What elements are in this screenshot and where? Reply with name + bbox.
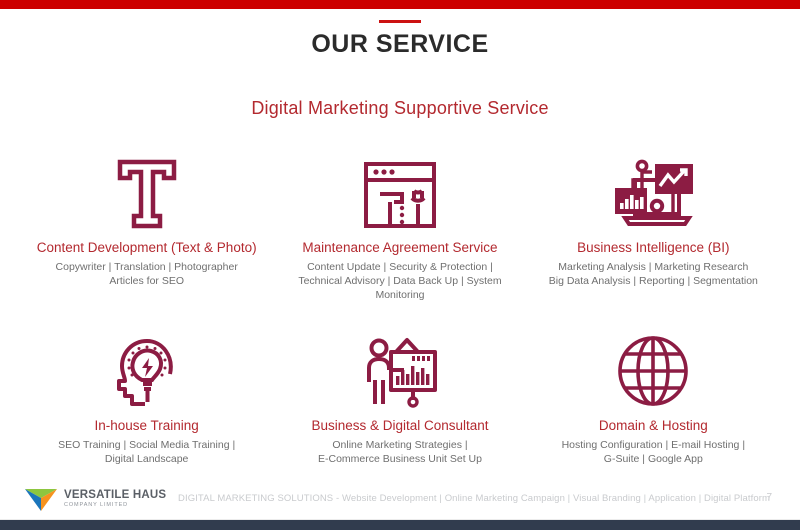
brand-logo-text: VERSATILE HAUS COMPANY LIMITED — [64, 490, 166, 509]
top-accent-bar — [0, 0, 800, 9]
typography-t-icon — [28, 148, 265, 230]
browser-tools-icon — [281, 148, 518, 230]
service-desc-line: SEO Training | Social Media Training | — [40, 438, 253, 452]
page-number: 7 — [766, 492, 772, 503]
service-card-business-digital-consultant[interactable]: Business & Digital Consultant Online Mar… — [273, 326, 526, 496]
globe-icon — [535, 326, 772, 408]
service-title: Maintenance Agreement Service — [281, 240, 518, 257]
footer-tagline: DIGITAL MARKETING SOLUTIONS - Website De… — [178, 493, 770, 504]
slide-canvas: OUR SERVICE Digital Marketing Supportive… — [0, 0, 800, 530]
service-title: Domain & Hosting — [535, 418, 772, 435]
service-title: Content Development (Text & Photo) — [28, 240, 265, 257]
title-accent-rule — [379, 20, 421, 23]
service-card-domain-hosting[interactable]: Domain & Hosting Hosting Configuration |… — [527, 326, 780, 496]
service-desc: SEO Training | Social Media Training | D… — [28, 438, 265, 466]
service-title: In-house Training — [28, 418, 265, 435]
versatile-haus-logo-icon — [24, 486, 58, 512]
slide-footer: VERSATILE HAUS COMPANY LIMITED DIGITAL M… — [0, 484, 800, 520]
service-desc: Content Update | Security & Protection |… — [281, 260, 518, 303]
presenter-chart-icon — [281, 326, 518, 408]
service-desc-line: G-Suite | Google App — [547, 452, 760, 466]
brand-logo[interactable]: VERSATILE HAUS COMPANY LIMITED — [24, 486, 166, 512]
service-card-maintenance-agreement[interactable]: Maintenance Agreement Service Content Up… — [273, 148, 526, 318]
bottom-accent-bar — [0, 520, 800, 530]
service-title: Business Intelligence (BI) — [535, 240, 772, 257]
service-desc: Copywriter | Translation | Photographer … — [28, 260, 265, 288]
service-desc: Hosting Configuration | E-mail Hosting |… — [535, 438, 772, 466]
service-desc-line: Content Update | Security & Protection | — [293, 260, 506, 274]
services-grid: Content Development (Text & Photo) Copyw… — [20, 148, 780, 504]
service-desc-line: Monitoring — [293, 288, 506, 302]
service-title: Business & Digital Consultant — [281, 418, 518, 435]
service-desc-line: Digital Landscape — [40, 452, 253, 466]
service-desc-line: Copywriter | Translation | Photographer — [40, 260, 253, 274]
brand-name: VERSATILE HAUS — [64, 490, 166, 502]
page-title: OUR SERVICE — [0, 31, 800, 59]
service-desc-line: Marketing Analysis | Marketing Research — [547, 260, 760, 274]
laptop-analytics-icon — [535, 148, 772, 230]
service-card-in-house-training[interactable]: In-house Training SEO Training | Social … — [20, 326, 273, 496]
service-desc-line: Online Marketing Strategies | — [293, 438, 506, 452]
service-desc-line: Big Data Analysis | Reporting | Segmenta… — [547, 274, 760, 288]
service-card-content-development[interactable]: Content Development (Text & Photo) Copyw… — [20, 148, 273, 318]
service-desc-line: Technical Advisory | Data Back Up | Syst… — [293, 274, 506, 288]
slide-header: OUR SERVICE — [0, 20, 800, 59]
page-subtitle: Digital Marketing Supportive Service — [0, 98, 800, 119]
service-desc: Online Marketing Strategies | E-Commerce… — [281, 438, 518, 466]
brand-subtitle: COMPANY LIMITED — [64, 503, 166, 509]
head-lightbulb-icon — [28, 326, 265, 408]
service-desc: Marketing Analysis | Marketing Research … — [535, 260, 772, 288]
service-card-business-intelligence[interactable]: Business Intelligence (BI) Marketing Ana… — [527, 148, 780, 318]
service-desc-line: E-Commerce Business Unit Set Up — [293, 452, 506, 466]
service-desc-line: Articles for SEO — [40, 274, 253, 288]
service-desc-line: Hosting Configuration | E-mail Hosting | — [547, 438, 760, 452]
